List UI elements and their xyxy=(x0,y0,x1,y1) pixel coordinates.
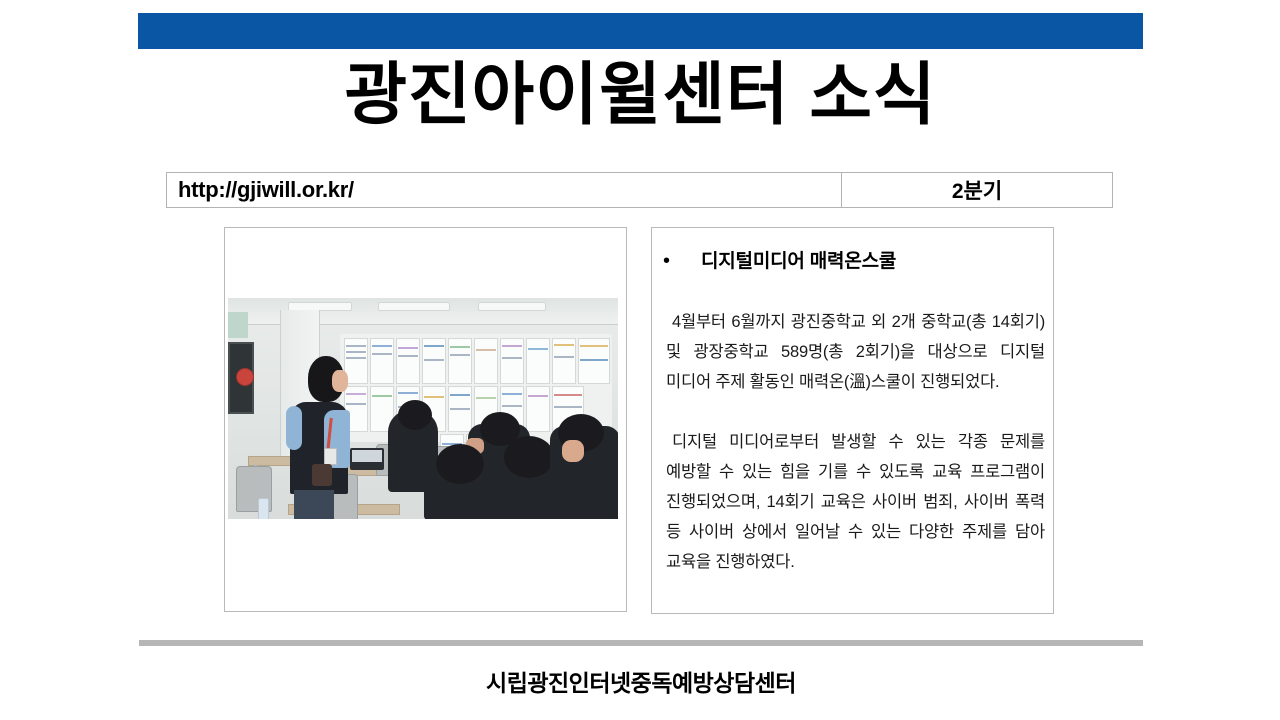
photo-poster xyxy=(526,338,550,384)
article-title: 디지털미디어 매력온스쿨 xyxy=(681,246,896,273)
footer-divider xyxy=(139,640,1143,646)
photo-poster xyxy=(448,338,472,384)
photo-water-bottle xyxy=(258,498,269,519)
photo-ceiling-light xyxy=(378,302,450,311)
photo-student-face xyxy=(562,440,584,462)
photo-student-head xyxy=(398,400,432,430)
photo-student-head xyxy=(504,436,554,478)
quarter-cell: 2분기 xyxy=(842,173,1112,207)
photo-instructor-jeans xyxy=(294,490,334,519)
photo-green-panel xyxy=(228,312,248,338)
photo-student-head xyxy=(436,444,484,484)
page-title: 광진아이윌센터 소식 xyxy=(138,52,1143,138)
photo-laptop xyxy=(350,448,384,470)
article-body: 4월부터 6월까지 광진중학교 외 2개 중학교(총 14회기) 및 광장중학교… xyxy=(666,307,1045,577)
photo-poster xyxy=(500,338,524,384)
website-url-cell[interactable]: http://gjiwill.or.kr/ xyxy=(167,173,842,207)
photo-wall-clock xyxy=(236,368,254,386)
footer-organization: 시립광진인터넷중독예방상담센터 xyxy=(139,664,1143,698)
photo-instructor-face xyxy=(332,370,348,392)
info-table: http://gjiwill.or.kr/ 2분기 xyxy=(166,172,1113,208)
header-accent-band xyxy=(138,13,1143,49)
photo-frame xyxy=(224,227,627,612)
photo-instructor-badge xyxy=(324,448,337,465)
photo-ceiling-light xyxy=(478,302,546,311)
photo-poster xyxy=(552,338,576,384)
newsletter-page: 광진아이윌센터 소식 http://gjiwill.or.kr/ 2분기 xyxy=(0,0,1280,720)
photo-poster xyxy=(370,338,394,384)
photo-poster xyxy=(448,386,472,432)
bullet-icon: • xyxy=(662,251,681,271)
photo-poster xyxy=(422,338,446,384)
article-box: • 디지털미디어 매력온스쿨 4월부터 6월까지 광진중학교 외 2개 중학교(… xyxy=(651,227,1054,614)
photo-poster xyxy=(578,338,610,384)
photo-poster xyxy=(526,386,550,432)
article-heading-row: • 디지털미디어 매력온스쿨 xyxy=(662,246,1043,273)
photo-instructor-pouch xyxy=(312,464,332,486)
photo-poster xyxy=(474,338,498,384)
classroom-photo xyxy=(228,298,618,519)
photo-instructor-sleeve xyxy=(286,406,302,450)
article-paragraph-2: 디지털 미디어로부터 발생할 수 있는 각종 문제를 예방할 수 있는 힘을 기… xyxy=(666,427,1045,577)
photo-poster xyxy=(396,338,420,384)
article-paragraph-1: 4월부터 6월까지 광진중학교 외 2개 중학교(총 14회기) 및 광장중학교… xyxy=(666,307,1045,397)
